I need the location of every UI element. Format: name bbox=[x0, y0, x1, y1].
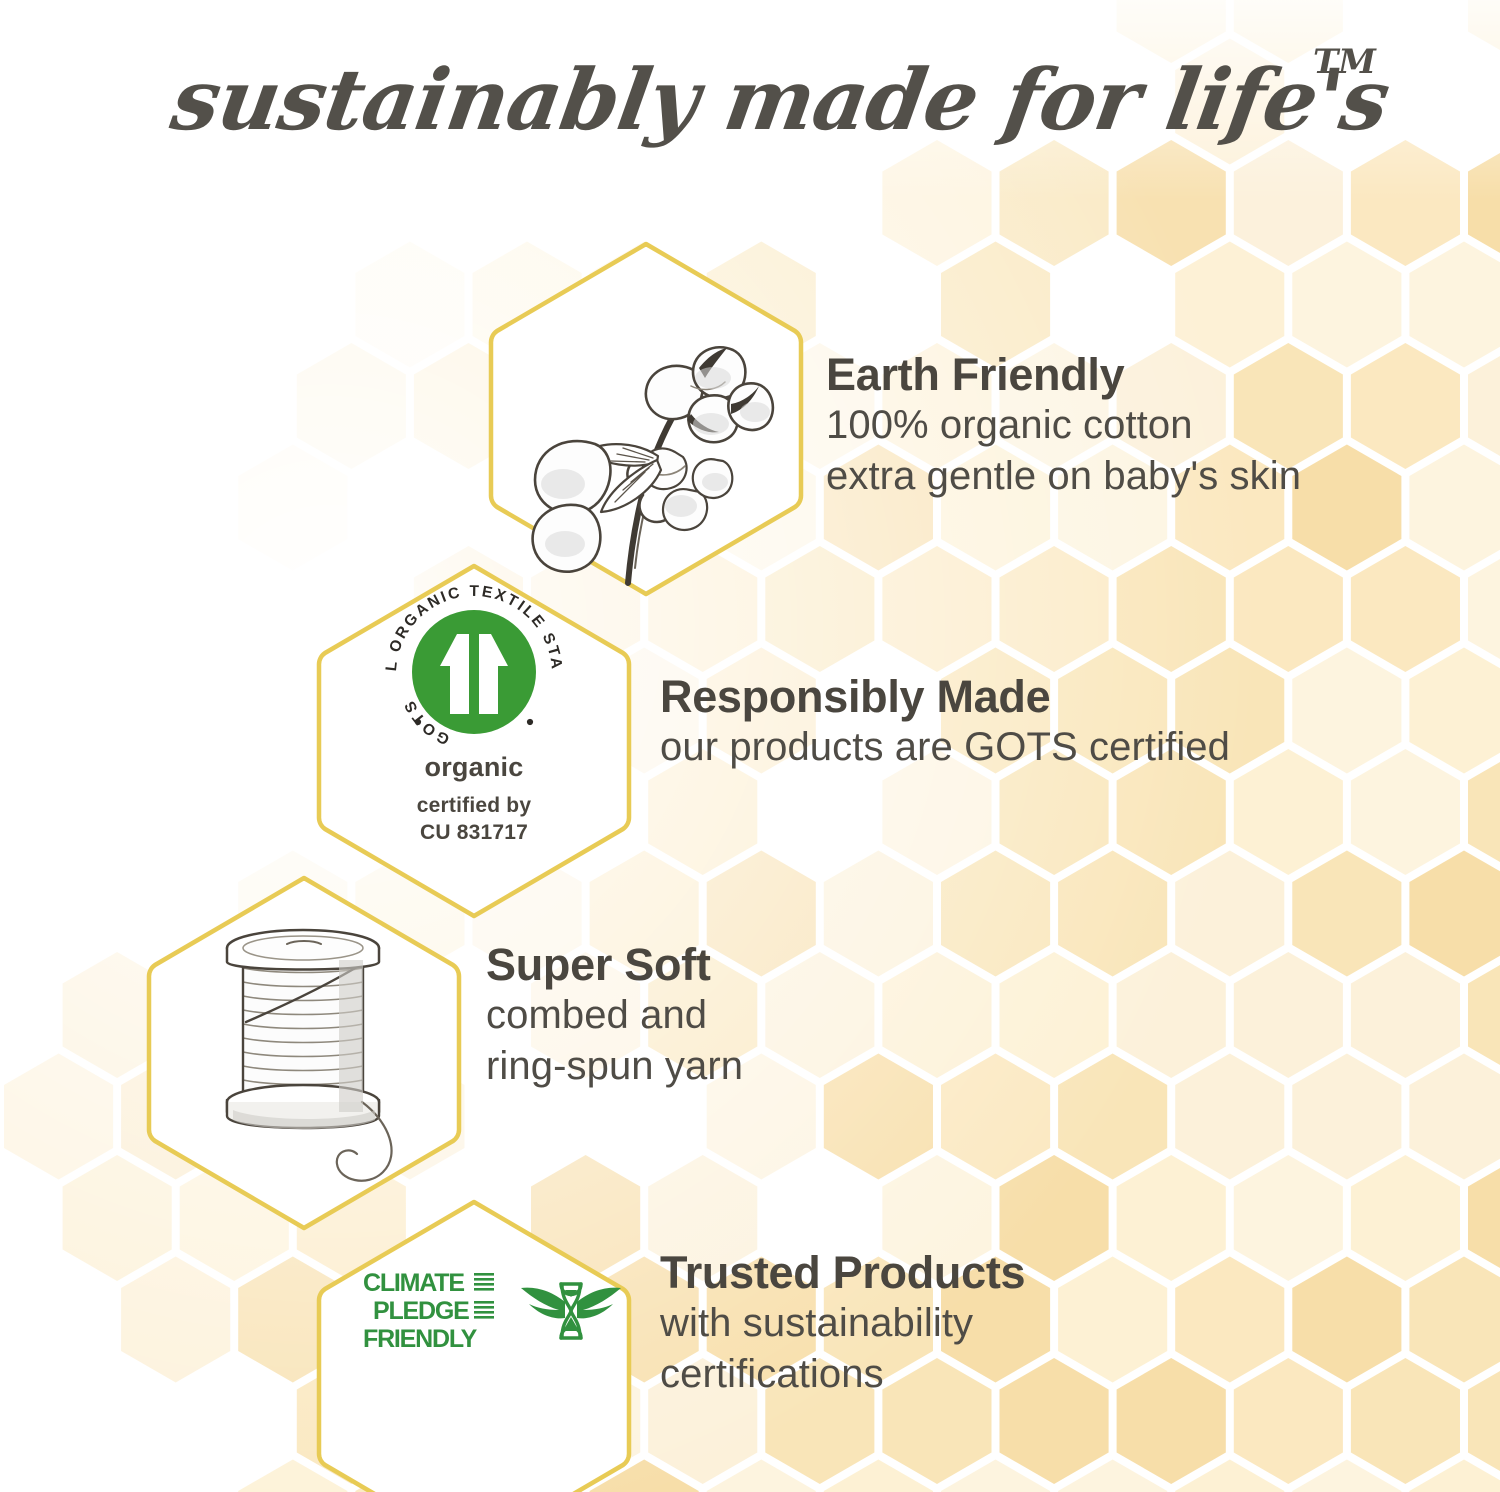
gots-caption-block: organic certified by CU 831717 bbox=[324, 752, 624, 847]
gots-certified-by-line: certified by bbox=[324, 793, 624, 820]
feature-desc-line: extra gentle on baby's skin bbox=[826, 451, 1301, 501]
feature-title: Earth Friendly bbox=[826, 350, 1301, 400]
feature-desc-line: 100% organic cotton bbox=[826, 400, 1301, 450]
climate-pledge-friendly-logo: CLIMATE PLEDGE FRIENDLY bbox=[363, 1268, 623, 1354]
feature-desc-line: our products are GOTS certified bbox=[660, 722, 1230, 772]
winged-hourglass-icon bbox=[519, 1276, 623, 1346]
gots-certifier-id: CU 831717 bbox=[324, 820, 624, 847]
feature-title: Responsibly Made bbox=[660, 672, 1230, 722]
feature-title: Super Soft bbox=[486, 940, 743, 990]
feature-text-super-soft: Super Soft combed and ring-spun yarn bbox=[486, 940, 743, 1091]
cpf-line-1: CLIMATE bbox=[363, 1269, 464, 1297]
feature-text-earth-friendly: Earth Friendly 100% organic cotton extra… bbox=[826, 350, 1301, 501]
feature-text-responsibly-made: Responsibly Made our products are GOTS c… bbox=[660, 672, 1230, 773]
feature-desc-line: ring-spun yarn bbox=[486, 1041, 743, 1091]
cpf-wordmark: CLIMATE PLEDGE FRIENDLY bbox=[363, 1268, 503, 1354]
feature-text-trusted-products: Trusted Products with sustainability cer… bbox=[660, 1248, 1025, 1399]
gots-certification-logo: GLOBAL ORGANIC TEXTILE STANDARD GOTS bbox=[374, 574, 574, 779]
gots-green-circle bbox=[412, 610, 536, 734]
background-top-fade bbox=[0, 0, 1500, 200]
feature-desc-line: certifications bbox=[660, 1349, 1025, 1399]
feature-title: Trusted Products bbox=[660, 1248, 1025, 1298]
feature-desc-line: with sustainability bbox=[660, 1298, 1025, 1348]
cpf-line-2: PLEDGE bbox=[373, 1297, 469, 1325]
cpf-line-3: FRIENDLY bbox=[363, 1325, 478, 1353]
cpf-stripe-bars bbox=[474, 1273, 494, 1319]
sustainability-infographic: .scr{font-family:"DejaVu Serif", serif;f… bbox=[0, 0, 1500, 1492]
feature-hex-card-super-soft bbox=[143, 872, 465, 1234]
gots-organic-label: organic bbox=[324, 752, 624, 783]
feature-hex-card-earth-friendly bbox=[485, 238, 807, 600]
feature-desc-line: combed and bbox=[486, 990, 743, 1040]
